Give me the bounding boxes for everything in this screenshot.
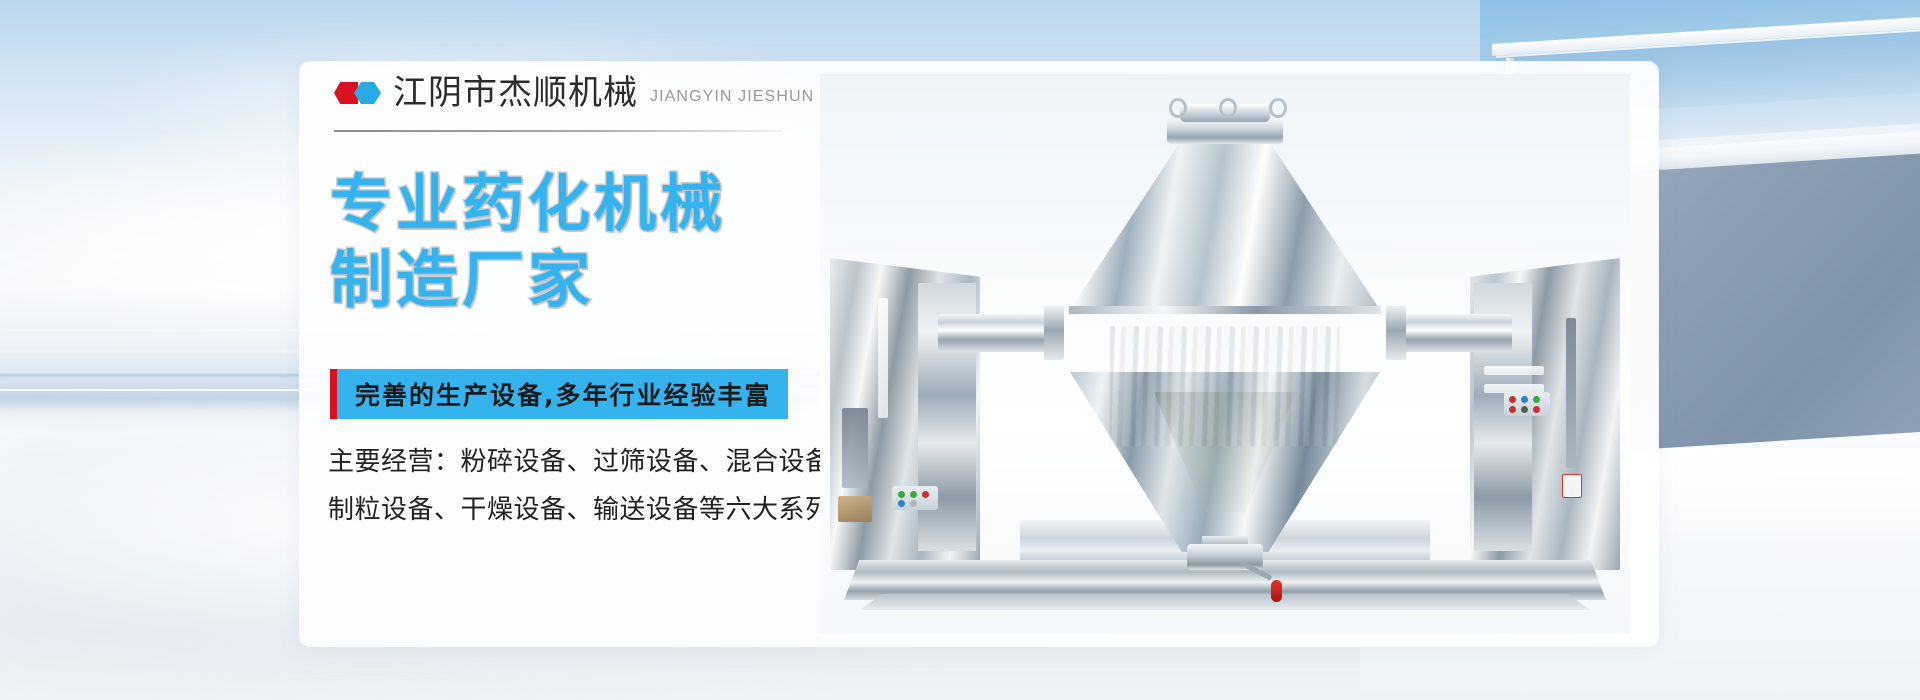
promo-banner: 江阴市杰顺机械 JIANGYIN JIESHUN MACHINERY 专业药化机…: [0, 0, 1920, 700]
slogan-text: 完善的生产设备,多年行业经验丰富: [355, 376, 772, 412]
indicator-blue: [898, 500, 905, 507]
brand-divider: [334, 130, 782, 132]
machine-left-control-panel: [892, 486, 938, 510]
reflection-shelf: [842, 408, 868, 488]
machine-valve-handle: [1271, 580, 1282, 602]
machine-mirror-reflection: [1110, 326, 1340, 446]
business-scope-line-2: 制粒设备、干燥设备、输送设备等六大系列。: [328, 486, 858, 534]
machine-left-trunnion-shaft: [938, 314, 1058, 352]
indicator-green: [910, 491, 917, 498]
content-card: 江阴市杰顺机械 JIANGYIN JIESHUN MACHINERY 专业药化机…: [300, 62, 1658, 646]
indicator-red: [922, 491, 929, 498]
business-scope-line-1: 主要经营：粉碎设备、过筛设备、混合设备、: [328, 438, 858, 486]
business-scope-text: 主要经营：粉碎设备、过筛设备、混合设备、 制粒设备、干燥设备、输送设备等六大系列…: [328, 438, 858, 534]
indicator-red: [1509, 406, 1516, 413]
machine-right-support: [1470, 258, 1620, 570]
machine-right-shaft-collar: [1386, 306, 1406, 360]
machine-base-shadow: [860, 594, 1590, 610]
logo-mark: [334, 82, 381, 104]
machine-right-control-panel: [1504, 392, 1550, 416]
page-title: 专业药化机械 制造厂家: [330, 166, 726, 317]
headline-line-1: 专业药化机械: [330, 166, 726, 242]
slogan-blue-bar: 完善的生产设备,多年行业经验丰富: [337, 369, 788, 419]
reflection-column: [1566, 318, 1576, 468]
indicator-red: [1533, 406, 1540, 413]
machine-left-shaft-collar: [1044, 306, 1064, 360]
blue-hexagon-icon: [354, 82, 381, 104]
indicator-green: [898, 491, 905, 498]
reflection-highlight: [878, 298, 888, 418]
reflection-ceiling-lamp: [1484, 366, 1544, 375]
indicator-dark: [1521, 406, 1528, 413]
indicator-green: [1533, 396, 1540, 403]
product-photo: [820, 74, 1630, 634]
machine-right-trunnion-shaft: [1392, 314, 1512, 352]
indicator-gray: [910, 500, 917, 507]
machine-eyebolt-icon: [1269, 98, 1287, 118]
headline-line-2: 制造厂家: [330, 242, 726, 318]
reflection-carton: [838, 496, 872, 522]
slogan-red-accent: [330, 369, 337, 419]
machine-left-support: [830, 258, 980, 570]
indicator-blue: [1521, 396, 1528, 403]
slogan-banner: 完善的生产设备,多年行业经验丰富: [330, 369, 788, 419]
brand-name-cn: 江阴市杰顺机械: [393, 76, 638, 110]
reflection-safety-sign: [1562, 474, 1582, 498]
machine-eyebolt-icon: [1219, 98, 1237, 118]
indicator-red: [1509, 396, 1516, 403]
machine-eyebolt-icon: [1169, 98, 1187, 118]
